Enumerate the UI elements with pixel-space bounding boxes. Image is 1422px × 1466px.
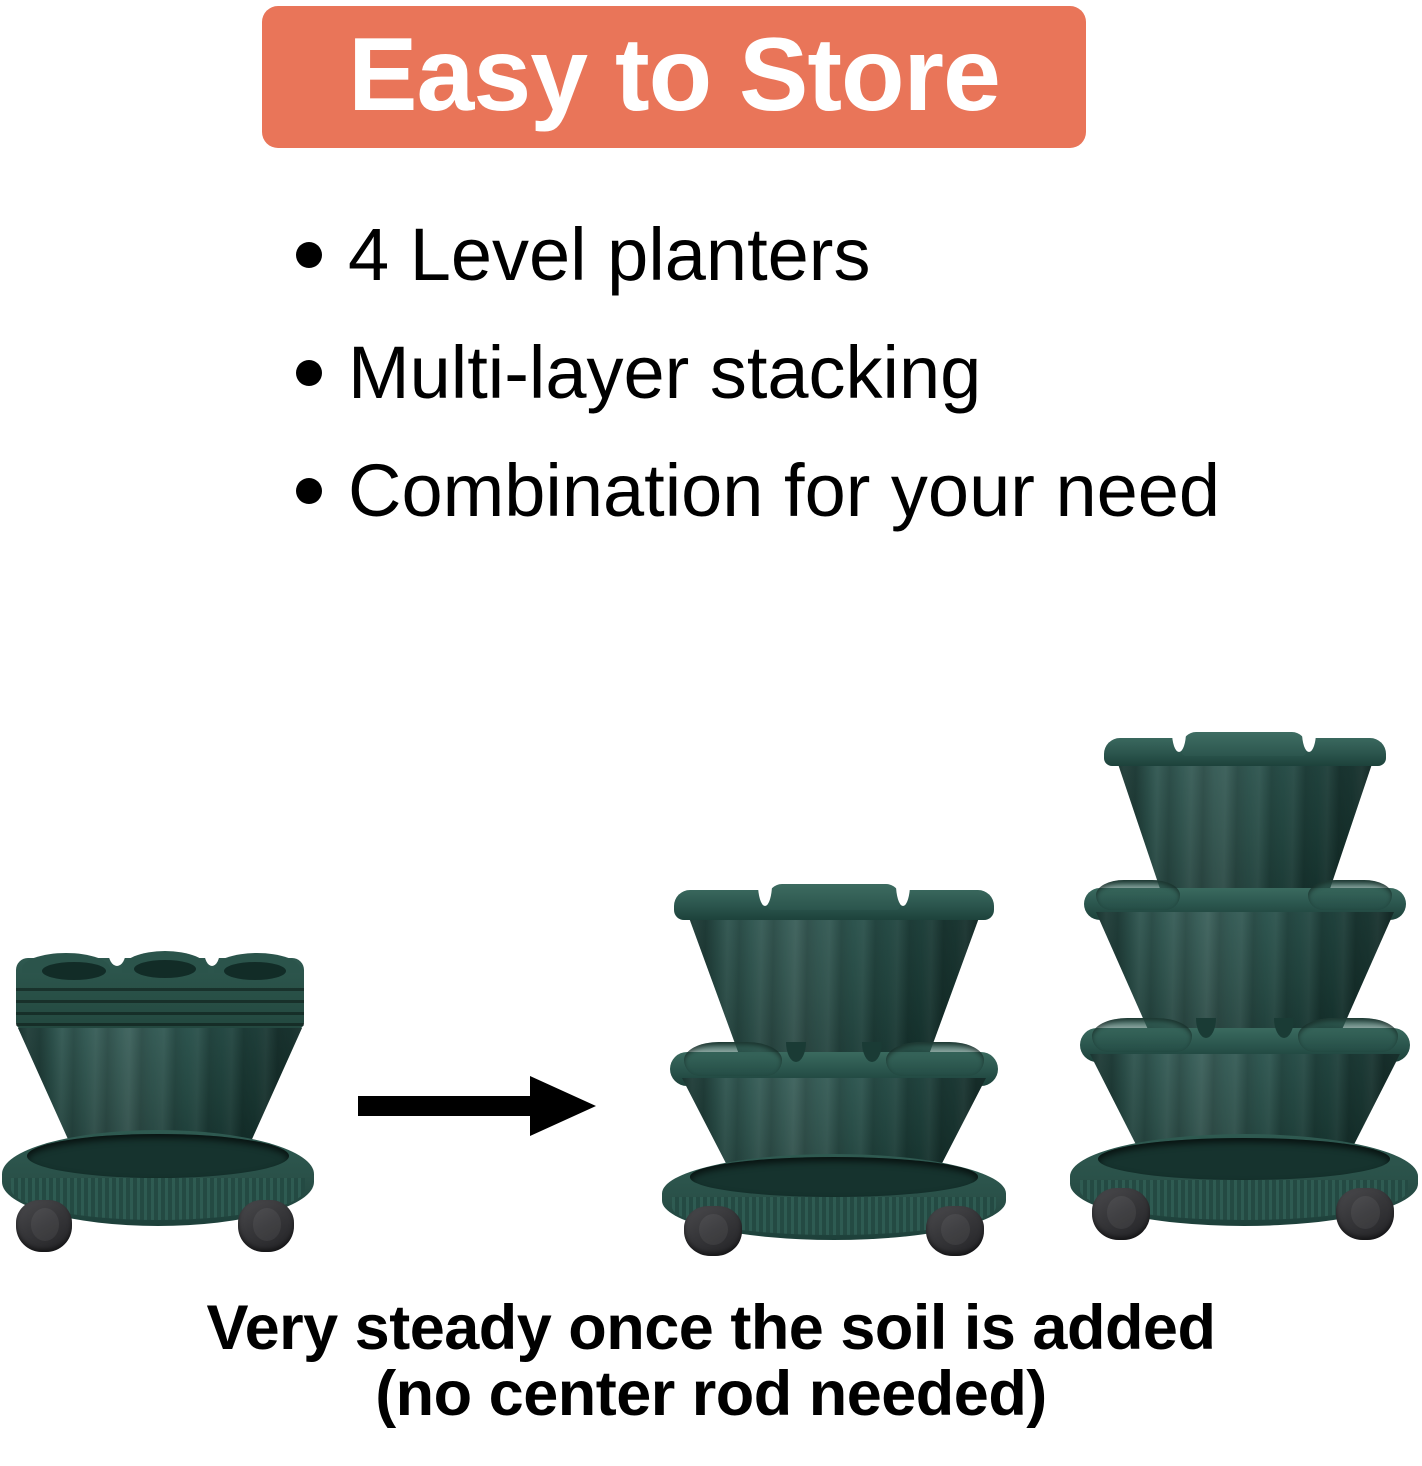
planter-tier — [684, 904, 984, 1060]
planter-pocket — [684, 1042, 782, 1076]
pocket-cavity — [224, 962, 286, 980]
caster-wheel — [238, 1200, 294, 1252]
caster-wheel — [684, 1206, 742, 1256]
planter-pocket — [1092, 1018, 1192, 1052]
pot-ridges — [684, 904, 984, 1060]
bullet-dot-icon — [296, 478, 322, 504]
caster-wheel — [16, 1200, 72, 1252]
nest-ring-line — [16, 988, 304, 991]
list-item: 4 Level planters — [296, 196, 1376, 314]
bullet-dot-icon — [296, 242, 322, 268]
two-tier-stack — [660, 882, 1008, 1254]
caster-wheel — [926, 1206, 984, 1256]
feature-label: Combination for your need — [348, 454, 1220, 528]
caster-wheel — [1092, 1188, 1150, 1240]
page-title: Easy to Store — [348, 23, 1000, 127]
bullet-dot-icon — [296, 360, 322, 386]
planter-pocket — [1308, 880, 1392, 910]
caption-block: Very steady once the soil is added (no c… — [0, 1296, 1422, 1427]
planter-tier — [1114, 752, 1376, 900]
planter-pocket — [886, 1042, 984, 1076]
planter-pocket — [1298, 1018, 1398, 1052]
nest-ring-line — [16, 1023, 304, 1026]
three-tier-stack — [1070, 720, 1418, 1254]
right-arrow-icon — [358, 1072, 596, 1140]
list-item: Multi-layer stacking — [296, 314, 1376, 432]
header-banner: Easy to Store — [262, 6, 1086, 148]
feature-label: Multi-layer stacking — [348, 336, 981, 410]
list-item: Combination for your need — [296, 432, 1376, 550]
caster-wheel — [1336, 1188, 1394, 1240]
nest-ring-line — [16, 1000, 304, 1003]
rim-lobe-center — [768, 884, 900, 910]
rim-lobe-center — [1182, 732, 1306, 756]
nested-tier-rings — [16, 958, 304, 1030]
feature-list: 4 Level planters Multi-layer stacking Co… — [296, 196, 1376, 550]
planter-pocket — [1096, 880, 1180, 910]
pocket-cavity — [134, 960, 196, 978]
caption-line-2: (no center rod needed) — [0, 1362, 1422, 1428]
feature-label: 4 Level planters — [348, 218, 870, 292]
product-illustration — [0, 690, 1422, 1290]
pocket-cavity — [42, 962, 106, 980]
caption-line-1: Very steady once the soil is added — [0, 1296, 1422, 1362]
nested-storage-stack — [2, 958, 318, 1250]
nest-ring-line — [16, 1012, 304, 1015]
pot-ridges — [1114, 752, 1376, 900]
